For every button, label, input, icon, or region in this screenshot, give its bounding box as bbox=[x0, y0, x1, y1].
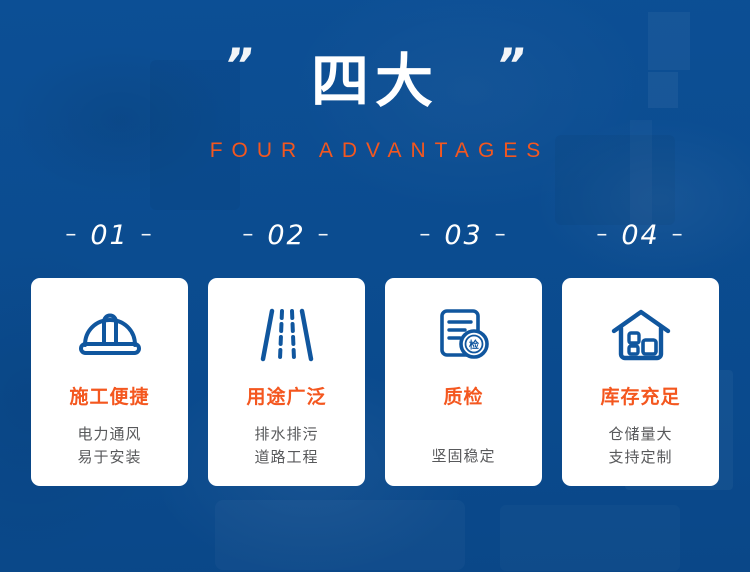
page-title: 四大 bbox=[311, 52, 439, 110]
step-number-value: 02 bbox=[267, 220, 305, 251]
advantage-card-3[interactable]: 检 质检 坚固稳定 bbox=[385, 278, 542, 486]
dash-left: – bbox=[596, 224, 609, 246]
advantage-card-1[interactable]: 施工便捷 电力通风 易于安装 bbox=[31, 278, 188, 486]
banner-header: ” 四大 ” FOUR ADVANTAGES bbox=[0, 0, 750, 161]
advantage-card-title: 施工便捷 bbox=[69, 388, 149, 407]
description-line-1: 坚固稳定 bbox=[431, 445, 495, 468]
dash-right: – bbox=[141, 224, 154, 246]
step-number-value: 04 bbox=[621, 220, 659, 251]
advantage-card-description: 坚固稳定 bbox=[431, 445, 495, 468]
advantage-card-title: 质检 bbox=[443, 388, 483, 407]
step-number-01: –01– bbox=[31, 222, 188, 249]
dash-left: – bbox=[419, 224, 432, 246]
step-number-03: –03– bbox=[385, 222, 542, 249]
step-number-04: –04– bbox=[562, 222, 719, 249]
quality-inspection-document-icon: 检 bbox=[435, 304, 493, 366]
advantage-card-title: 用途广泛 bbox=[246, 388, 326, 407]
quote-mark-left-icon: ” bbox=[210, 42, 268, 88]
description-line-2: 易于安装 bbox=[77, 446, 141, 469]
quote-mark-right-icon: ” bbox=[482, 42, 540, 88]
description-line-2: 支持定制 bbox=[608, 446, 672, 469]
seal-character: 检 bbox=[469, 339, 479, 352]
title-row: ” 四大 ” bbox=[0, 36, 750, 126]
background-shape bbox=[500, 505, 680, 571]
step-number-value: 01 bbox=[90, 220, 128, 251]
step-number-02: –02– bbox=[208, 222, 365, 249]
description-line-1: 排水排污 bbox=[254, 423, 318, 446]
advantage-card-description: 排水排污 道路工程 bbox=[254, 423, 318, 468]
advantage-card-4[interactable]: 库存充足 仓储量大 支持定制 bbox=[562, 278, 719, 486]
description-line-1: 仓储量大 bbox=[608, 423, 672, 446]
dash-left: – bbox=[242, 224, 255, 246]
dash-right: – bbox=[318, 224, 331, 246]
description-line-2: 道路工程 bbox=[254, 446, 318, 469]
step-number-strip: –01– –02– –03– –04– bbox=[31, 222, 719, 249]
dash-right: – bbox=[672, 224, 685, 246]
warehouse-icon bbox=[610, 304, 672, 366]
dash-left: – bbox=[65, 224, 78, 246]
dash-right: – bbox=[495, 224, 508, 246]
advantage-card-2[interactable]: 用途广泛 排水排污 道路工程 bbox=[208, 278, 365, 486]
four-advantages-banner: ” 四大 ” FOUR ADVANTAGES –01– –02– –03– –0… bbox=[0, 0, 750, 572]
advantage-card-title: 库存充足 bbox=[600, 388, 680, 407]
hard-hat-icon bbox=[78, 304, 142, 366]
advantage-card-description: 电力通风 易于安装 bbox=[77, 423, 141, 468]
road-icon bbox=[259, 304, 315, 366]
background-shape bbox=[215, 500, 465, 570]
advantage-card-list: 施工便捷 电力通风 易于安装 用途广泛 排水排污 道路工程 bbox=[31, 278, 719, 486]
advantage-card-description: 仓储量大 支持定制 bbox=[608, 423, 672, 468]
page-subtitle: FOUR ADVANTAGES bbox=[0, 140, 750, 161]
description-line-1: 电力通风 bbox=[77, 423, 141, 446]
step-number-value: 03 bbox=[444, 220, 482, 251]
